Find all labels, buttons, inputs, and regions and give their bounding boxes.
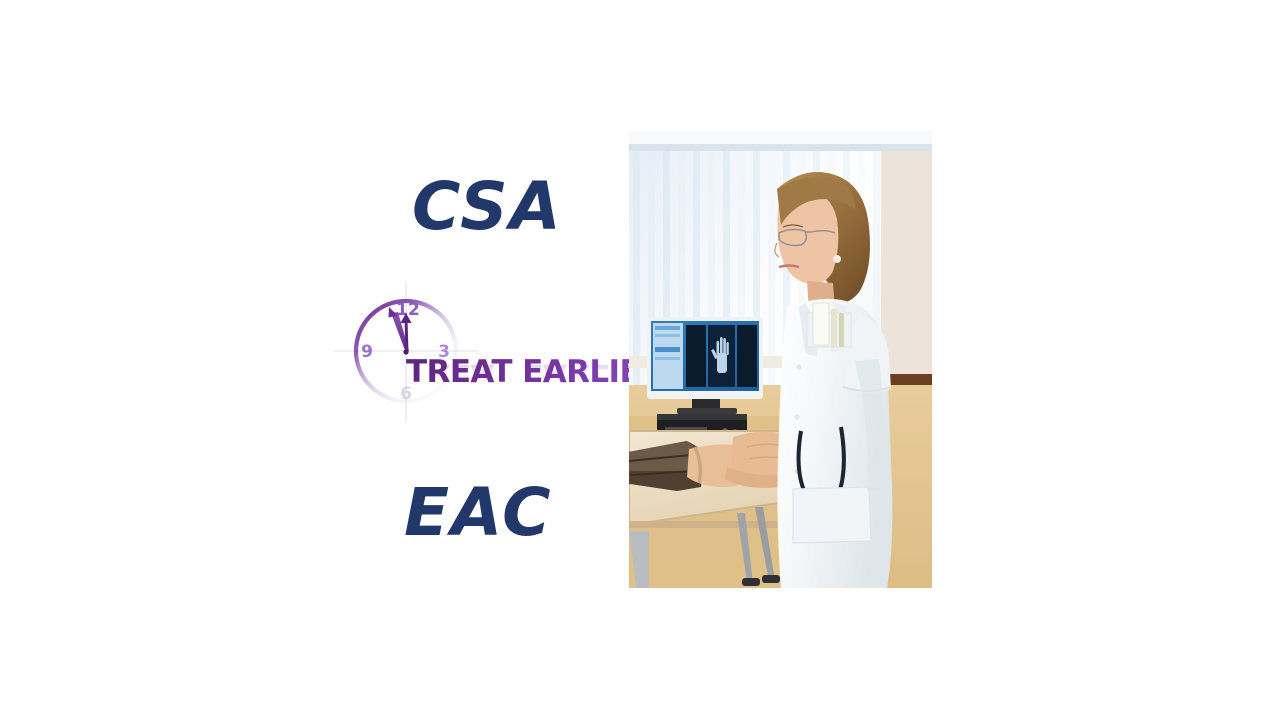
treat-earlier-logo: 12 3 6 9 TREAT EARLIER TREAT EARLIER <box>330 285 630 435</box>
acronym-top: CSA <box>412 174 563 240</box>
photo-ceiling-rail <box>629 144 932 151</box>
wordmark-reflection: TREAT EARLIER <box>406 359 630 390</box>
photo-lower-pocket <box>793 487 871 543</box>
wordmark-block: TREAT EARLIER TREAT EARLIER <box>406 357 630 429</box>
clock-numeral-9: 9 <box>361 342 373 362</box>
slide-canvas: CSA <box>0 0 1280 720</box>
photo-ceiling <box>629 131 932 144</box>
photo-earring <box>833 255 841 263</box>
acronym-bottom: EAC <box>404 480 553 546</box>
clinic-photo <box>629 131 932 588</box>
photo-side-wall <box>881 151 932 379</box>
